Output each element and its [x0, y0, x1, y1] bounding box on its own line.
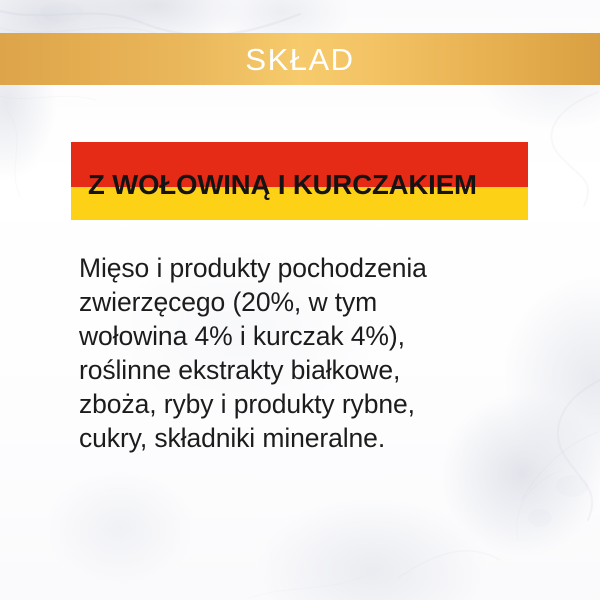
- ingredients-line: wołowina 4% i kurczak 4%),: [79, 319, 549, 353]
- variant-name-label: Z WOŁOWINĄ I KURCZAKIEM: [88, 146, 523, 224]
- ingredients-line: zboża, ryby i produkty rybne,: [79, 387, 549, 421]
- ingredients-line: roślinne ekstrakty białkowe,: [79, 353, 549, 387]
- ingredients-line: Mięso i produkty pochodzenia: [79, 251, 549, 285]
- composition-panel: SKŁAD Z WOŁOWINĄ I KURCZAKIEM Mięso i pr…: [0, 0, 600, 600]
- variant-banner: Z WOŁOWINĄ I KURCZAKIEM: [71, 142, 528, 220]
- page-title: SKŁAD: [245, 44, 354, 75]
- ingredients-line: zwierzęcego (20%, w tym: [79, 285, 549, 319]
- ingredients-line: cukry, składniki mineralne.: [79, 421, 549, 455]
- section-header-band: SKŁAD: [0, 33, 600, 85]
- ingredients-text: Mięso i produkty pochodzenia zwierzęcego…: [79, 251, 549, 455]
